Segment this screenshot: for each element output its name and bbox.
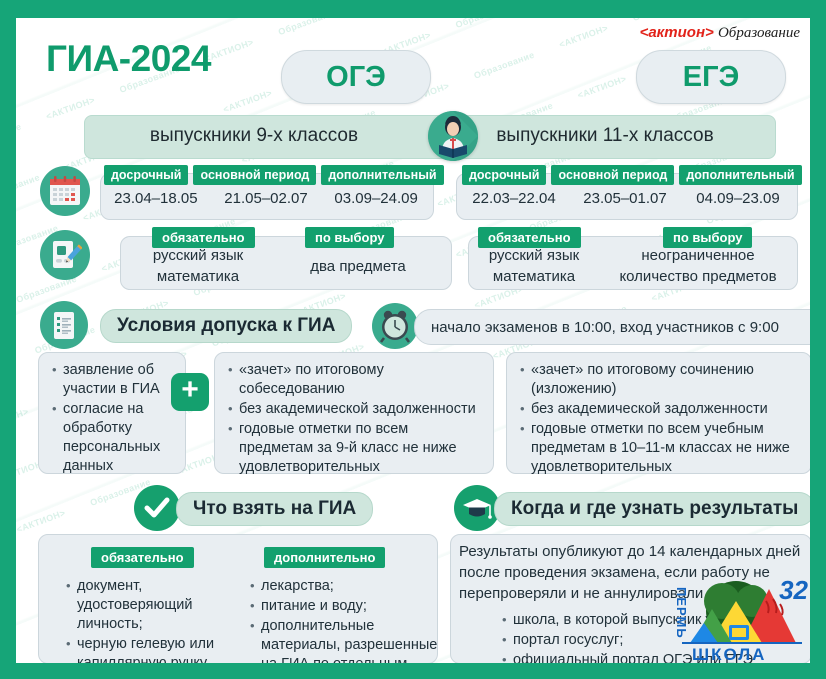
admission-oge-list: «зачет» по итоговому собеседованию без а… — [225, 361, 483, 477]
student-reading-icon — [428, 111, 478, 161]
periods-dates-oge: 23.04–18.05 21.05–02.07 03.09–24.09 — [104, 190, 428, 207]
list-item: без академической задолженности — [239, 400, 483, 419]
period-date-extra-ege: 04.09–23.09 — [684, 190, 792, 207]
exam-time-text: начало экзаменов в 10:00, вход участнико… — [431, 319, 779, 336]
calendar-icon — [40, 166, 90, 216]
period-date-extra-oge: 03.09–24.09 — [324, 190, 428, 207]
list-item: лекарства; — [261, 577, 451, 596]
list-item: без академической задолженности — [531, 400, 801, 419]
alarm-clock-icon — [372, 303, 418, 349]
period-date-main-ege: 23.05–01.07 — [566, 190, 684, 207]
take-additional-list: лекарства; питание и воду; дополнительны… — [247, 577, 451, 663]
admission-box-oge: «зачет» по итоговому собеседованию без а… — [214, 352, 494, 474]
list-item: черную гелевую или капиллярную ручку — [77, 635, 242, 663]
periods-tags-oge: досрочный основной период дополнительный — [104, 165, 444, 185]
period-tag-extra-ege: дополнительный — [679, 165, 801, 185]
brand-name: <актион> — [640, 24, 714, 41]
results-heading-text: Когда и где узнать результаты — [511, 498, 798, 520]
period-tag-extra-oge: дополнительный — [321, 165, 443, 185]
subject-required-ege: русский язык математика — [464, 245, 604, 287]
subject-optional-ege: неограниченное количество предметов — [608, 245, 788, 287]
take-tag-additional: дополнительно — [264, 547, 385, 568]
results-heading: Когда и где узнать результаты — [494, 492, 810, 526]
school-logo: ПЕРМЬ 32 ШКОЛА — [674, 571, 808, 663]
list-item: годовые отметки по всем предметам за 9-й… — [239, 420, 483, 477]
take-box: обязательно дополнительно документ, удос… — [38, 534, 438, 663]
list-item: документ, удостоверяющий личность; — [77, 577, 242, 634]
list-item: согласие на обработку персональных данны… — [63, 400, 175, 476]
period-date-main-oge: 21.05–02.07 — [208, 190, 325, 207]
graduates-label-11: выпускники 11-х классов — [436, 115, 774, 157]
subject-required-oge: русский язык математика — [128, 245, 268, 287]
list-item: заявление об участии в ГИА — [63, 361, 175, 399]
take-tag-required: обязательно — [91, 547, 194, 568]
exam-time-bar: начало экзаменов в 10:00, вход участнико… — [414, 309, 810, 345]
brand-suffix: Образование — [718, 25, 800, 41]
subject-optional-oge: два предмета — [278, 256, 438, 277]
checklist-icon — [40, 301, 88, 349]
plus-badge-text: + — [181, 375, 199, 405]
list-item: годовые отметки по всем учебным предмета… — [531, 420, 801, 477]
graduates-label-9: выпускники 9-х классов — [84, 115, 424, 157]
period-tag-main-ege: основной период — [551, 165, 674, 185]
period-tag-early-ege: досрочный — [462, 165, 546, 185]
admission-box-common: заявление об участии в ГИА согласие на о… — [38, 352, 186, 474]
take-heading-text: Что взять на ГИА — [193, 498, 356, 520]
admission-box-ege: «зачет» по итоговому сочинению (изложени… — [506, 352, 810, 474]
page-title: ГИА-2024 — [46, 38, 211, 80]
school-word-label: ШКОЛА — [692, 645, 766, 663]
poster-sheet: <АКТИОН> Образование <АКТИОН> Образовани… — [16, 18, 810, 663]
check-circle-icon — [134, 485, 180, 531]
plus-badge-icon: + — [171, 373, 209, 411]
admission-heading: Условия допуска к ГИА — [100, 309, 352, 343]
list-item: «зачет» по итоговому собеседованию — [239, 361, 483, 399]
exam-pill-oge[interactable]: ОГЭ — [281, 50, 431, 104]
school-number-label: 32 — [779, 575, 808, 606]
take-required-list: документ, удостоверяющий личность; черну… — [63, 577, 242, 663]
periods-tags-ege: досрочный основной период дополнительный — [462, 165, 802, 185]
exam-pill-ege[interactable]: ЕГЭ — [636, 50, 786, 104]
take-heading: Что взять на ГИА — [176, 492, 373, 526]
list-item: питание и воду; — [261, 597, 451, 616]
document-pencil-icon — [40, 230, 90, 280]
school-city-label: ПЕРМЬ — [676, 587, 687, 639]
brand-logo: <актион> Образование — [640, 24, 800, 42]
period-date-early-oge: 23.04–18.05 — [104, 190, 208, 207]
period-date-early-ege: 22.03–22.04 — [462, 190, 566, 207]
subject-tag-optional-oge: по выбору — [305, 227, 394, 248]
period-tag-early-oge: досрочный — [104, 165, 188, 185]
admission-heading-text: Условия допуска к ГИА — [117, 315, 335, 337]
admission-ege-list: «зачет» по итоговому сочинению (изложени… — [517, 361, 801, 477]
admission-common-list: заявление об участии в ГИА согласие на о… — [49, 361, 175, 476]
list-item: дополнительные материалы, разрешенные на… — [261, 617, 451, 663]
periods-dates-ege: 22.03–22.04 23.05–01.07 04.09–23.09 — [462, 190, 792, 207]
list-item: «зачет» по итоговому сочинению (изложени… — [531, 361, 801, 399]
period-tag-main-oge: основной период — [193, 165, 316, 185]
poster-frame: <АКТИОН> Образование <АКТИОН> Образовани… — [0, 0, 826, 679]
